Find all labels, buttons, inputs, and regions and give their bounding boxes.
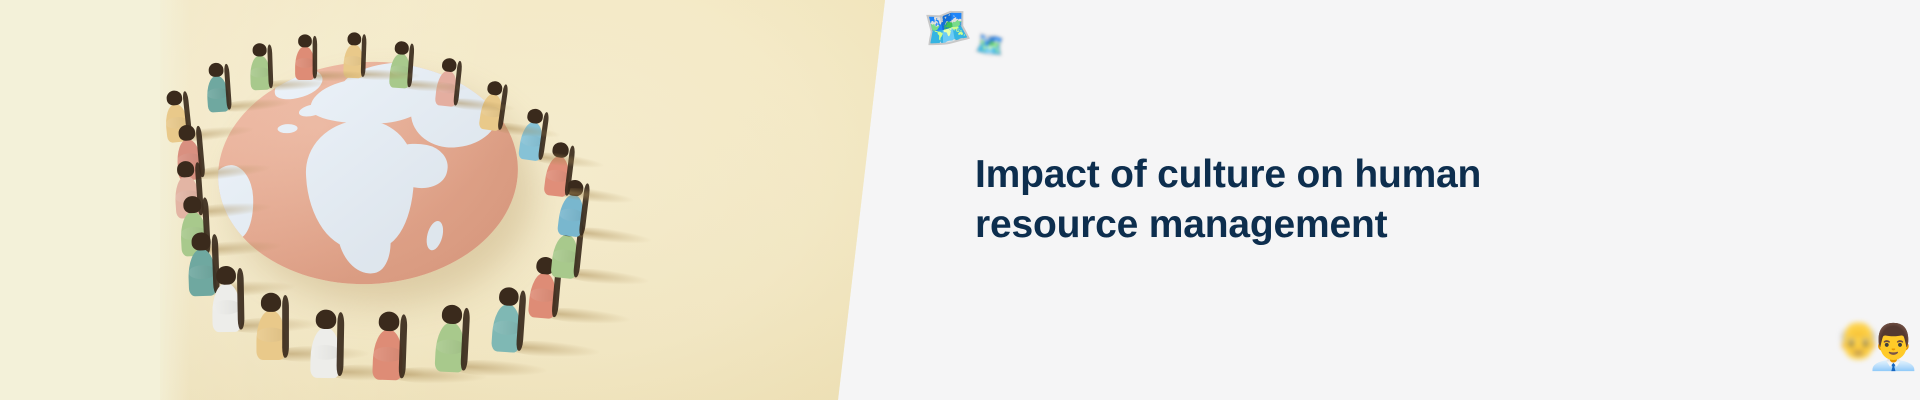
figure-head: [216, 266, 236, 285]
figure-edge: [313, 36, 318, 79]
continent-africa: [303, 118, 418, 251]
paper-person-figure: [434, 304, 467, 373]
page-title: Impact of culture on human resource mana…: [975, 150, 1535, 250]
businessman-icon: 👨‍💼: [1866, 326, 1920, 370]
paper-person-figure: [389, 41, 412, 89]
paper-person-figure: [310, 309, 341, 378]
paper-person-figure: [295, 34, 315, 80]
island-speck-1: [298, 102, 326, 119]
paper-person-figure: [212, 266, 242, 332]
figure-head: [166, 90, 183, 106]
figure-head: [176, 161, 194, 178]
figure-edge: [336, 312, 344, 376]
figure-edge: [237, 268, 245, 330]
paper-person-figure: [256, 293, 285, 360]
figure-head: [208, 62, 224, 77]
figure-head: [378, 311, 399, 331]
figure-head: [261, 293, 281, 312]
world-map-large-icon: 🗺️: [922, 7, 974, 51]
figure-head: [499, 287, 520, 307]
figure-head: [394, 41, 409, 55]
figure-head: [191, 232, 211, 251]
continent-africa-horn: [382, 138, 451, 193]
paper-person-figure: [372, 311, 404, 380]
figure-head: [183, 196, 202, 214]
figure-body: [256, 311, 285, 360]
figure-head: [178, 124, 196, 141]
hero-content: Impact of culture on human resource mana…: [975, 0, 1795, 400]
figure-head: [526, 108, 543, 125]
hero-photo: [0, 0, 890, 400]
island-speck-2: [277, 124, 297, 134]
article-hero-banner: 🗺️ 🗺️ 👴 👨‍💼 Impact of culture on human r…: [0, 0, 1920, 400]
figure-head: [316, 309, 337, 329]
figure-head: [252, 43, 266, 57]
figure-head: [487, 80, 504, 96]
paper-person-figure: [543, 141, 573, 197]
figure-head: [347, 32, 361, 45]
paper-person-figure: [249, 43, 271, 90]
island-madagascar: [424, 219, 446, 252]
continent-southern-africa: [334, 208, 397, 279]
figure-head: [298, 34, 312, 47]
figure-head: [441, 304, 462, 324]
figure-head: [441, 58, 457, 73]
figure-edge: [282, 295, 289, 358]
paper-person-figure: [491, 286, 524, 353]
paper-person-figure: [205, 62, 230, 113]
